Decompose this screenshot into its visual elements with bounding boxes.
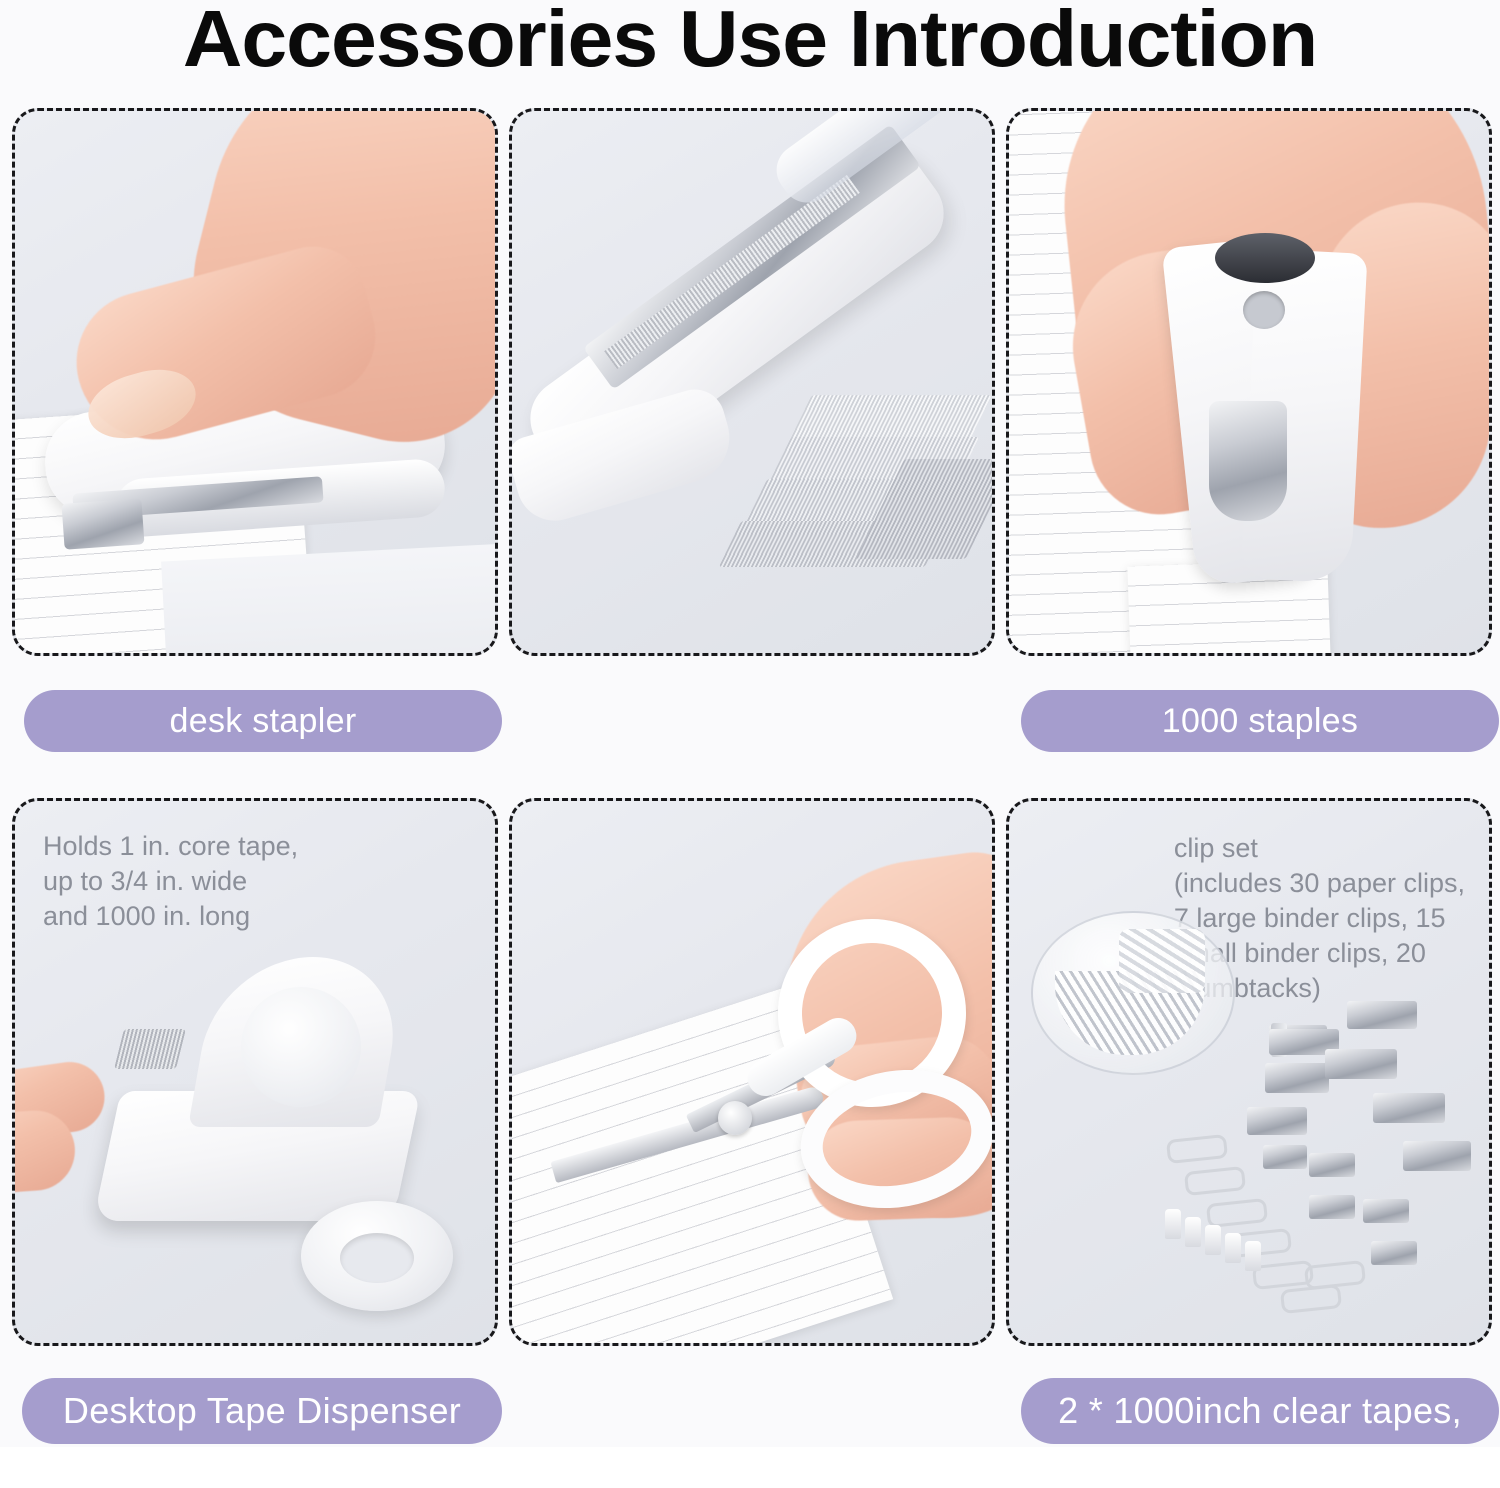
photo-staples	[509, 108, 995, 656]
binder-clip-large	[1403, 1141, 1471, 1171]
photo-staple-remover	[1006, 108, 1492, 656]
page-title: Accessories Use Introduction	[0, 0, 1500, 82]
thumbtack	[1185, 1217, 1201, 1247]
photo-desk-stapler	[12, 108, 498, 656]
tape-roll-in-dispenser	[241, 987, 361, 1107]
paper-clip	[1304, 1260, 1366, 1290]
stapler-anvil	[61, 498, 144, 549]
panel-clip-set: clip set (includes 30 paper clips, 7 lar…	[1006, 798, 1492, 1346]
panel-staples: 1000 staples	[509, 108, 995, 656]
photo-tape-dispenser: Holds 1 in. core tape, up to 3/4 in. wid…	[12, 798, 498, 1346]
binder-clip-small	[1363, 1199, 1409, 1223]
paper-clip	[1184, 1166, 1246, 1196]
panel-row-2: Holds 1 in. core tape, up to 3/4 in. wid…	[0, 798, 1500, 1488]
thumbtack	[1225, 1233, 1241, 1263]
caption-clear-tapes: 2 * 1000inch clear tapes,	[1021, 1378, 1499, 1444]
panel-staple-remover: staple remover	[1006, 108, 1492, 656]
staple-remover-pivot	[1215, 233, 1315, 283]
photo-clip-set: clip set (includes 30 paper clips, 7 lar…	[1006, 798, 1492, 1346]
panel-desk-stapler: desk stapler	[12, 108, 498, 656]
note-tape-dispenser: Holds 1 in. core tape, up to 3/4 in. wid…	[43, 829, 298, 934]
caption-staples: 1000 staples	[1021, 690, 1499, 752]
panel-row-1: desk stapler 1000 staples	[0, 108, 1500, 798]
tape-cutter-blade	[114, 1029, 186, 1069]
binder-clip-large	[1265, 1063, 1329, 1093]
staple-remover-blade	[1209, 401, 1287, 521]
binder-clip-large	[1347, 1001, 1417, 1029]
thumbtack	[1165, 1209, 1181, 1239]
scissor-pivot-screw	[718, 1101, 752, 1135]
panel-tape-dispenser: Holds 1 in. core tape, up to 3/4 in. wid…	[12, 798, 498, 1346]
caption-desk-stapler: desk stapler	[24, 690, 502, 752]
paper-clip	[1206, 1198, 1268, 1228]
binder-clip-large	[1247, 1107, 1307, 1135]
photo-scissors-cutting	[509, 798, 995, 1346]
paper-clip	[1166, 1134, 1228, 1164]
binder-clip-small	[1371, 1241, 1417, 1265]
panel-clear-tapes: 2 * 1000inch clear tapes,	[509, 798, 995, 1346]
spare-tape-roll-hole	[340, 1233, 414, 1283]
binder-clip-large	[1373, 1093, 1445, 1123]
panel-grid: desk stapler 1000 staples	[0, 108, 1500, 1488]
caption-tape-dispenser: Desktop Tape Dispenser	[22, 1378, 502, 1444]
desk-surface	[161, 541, 498, 656]
binder-clip-small	[1309, 1153, 1355, 1177]
binder-clip-small	[1263, 1145, 1307, 1169]
staple-remover-hole	[1243, 291, 1285, 329]
staple-stack	[788, 395, 991, 443]
binder-clip-small	[1309, 1195, 1355, 1219]
thumbtack	[1205, 1225, 1221, 1255]
binder-clip-large	[1325, 1049, 1397, 1079]
thumbtack	[1245, 1241, 1261, 1271]
thumbtacks-in-case	[1119, 929, 1205, 993]
